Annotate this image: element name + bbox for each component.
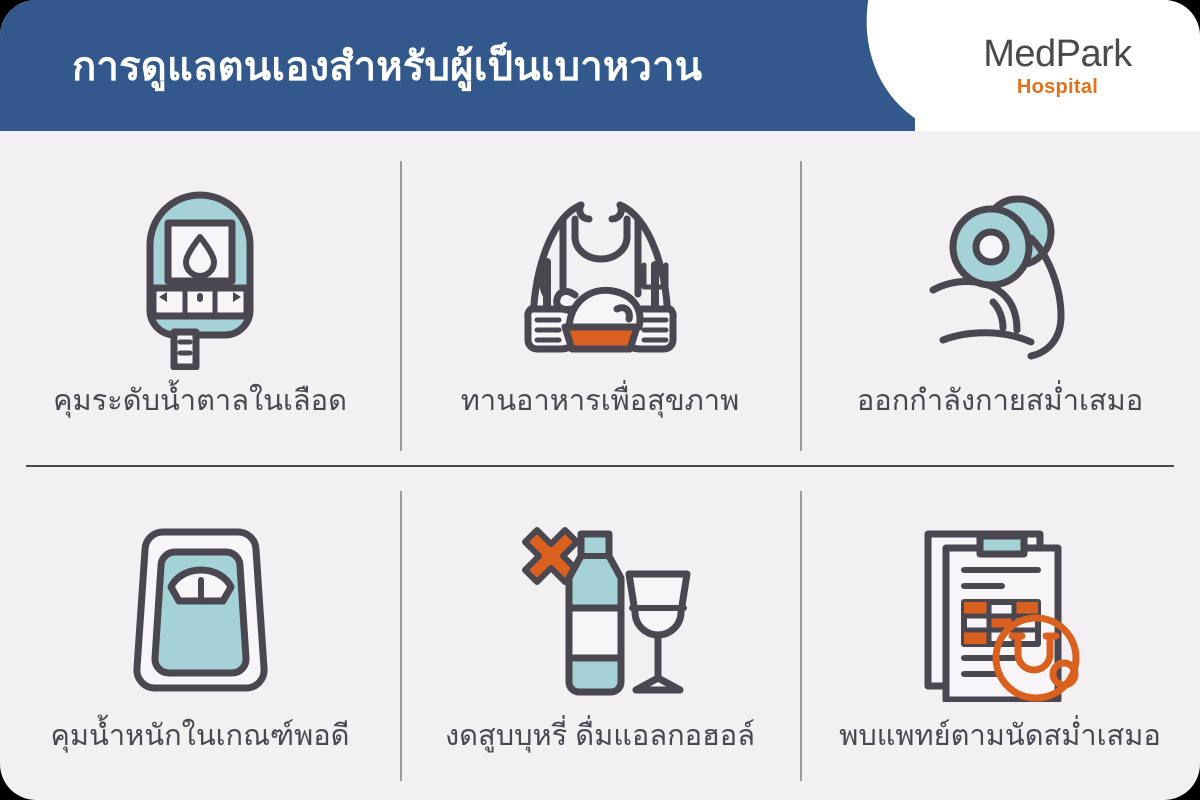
page-title: การดูแลตนเองสำหรับผู้เป็นเบาหวาน (72, 0, 702, 131)
grid-item-doctor-appointment: พบแพทย์ตามนัดสม่ำเสมอ (800, 466, 1200, 800)
divider-vertical-top-right (800, 161, 802, 451)
grid-item-label: คุมระดับน้ำตาลในเลือด (53, 383, 347, 419)
divider-horizontal (26, 465, 1174, 467)
grid-item-label: คุมน้ำหนักในเกณฑ์พอดี (51, 718, 350, 754)
logo-primary-text: MedPark (983, 35, 1132, 73)
grid-item-blood-sugar: คุมระดับน้ำตาลในเลือด (0, 131, 400, 466)
grid-item-label: ทานอาหารเพื่อสุขภาพ (461, 383, 739, 419)
grid-item-exercise: ออกกำลังกายสม่ำเสมอ (800, 131, 1200, 466)
healthy-meal-icon (503, 177, 698, 377)
divider-vertical-top-left (400, 161, 402, 451)
glucose-meter-icon (125, 177, 275, 377)
grid-item-label: พบแพทย์ตามนัดสม่ำเสมอ (839, 718, 1161, 754)
grid-item-label: ออกกำลังกายสม่ำเสมอ (857, 383, 1143, 419)
clipboard-stethoscope-icon (918, 512, 1083, 712)
grid-item-weight: คุมน้ำหนักในเกณฑ์พอดี (0, 466, 400, 800)
grid-item-no-alcohol: งดสูบบุหรี่ ดื่มแอลกอฮอล์ (400, 466, 800, 800)
header-banner: การดูแลตนเองสำหรับผู้เป็นเบาหวาน MedPark… (0, 0, 1200, 131)
brand-logo: MedPark Hospital (915, 0, 1200, 131)
grid-item-label: งดสูบบุหรี่ ดื่มแอลกอฮอล์ (445, 718, 755, 754)
divider-vertical-bottom-left (400, 491, 402, 781)
infographic-card: การดูแลตนเองสำหรับผู้เป็นเบาหวาน MedPark… (0, 0, 1200, 800)
weight-scale-icon (123, 512, 278, 712)
no-alcohol-bottle-glass-icon (503, 512, 698, 712)
divider-vertical-bottom-right (800, 491, 802, 781)
logo-secondary-text: Hospital (1017, 77, 1098, 97)
grid-item-healthy-food: ทานอาหารเพื่อสุขภาพ (400, 131, 800, 466)
flexed-arm-dumbbell-icon (905, 177, 1095, 377)
self-care-grid: คุมระดับน้ำตาลในเลือด (0, 131, 1200, 800)
